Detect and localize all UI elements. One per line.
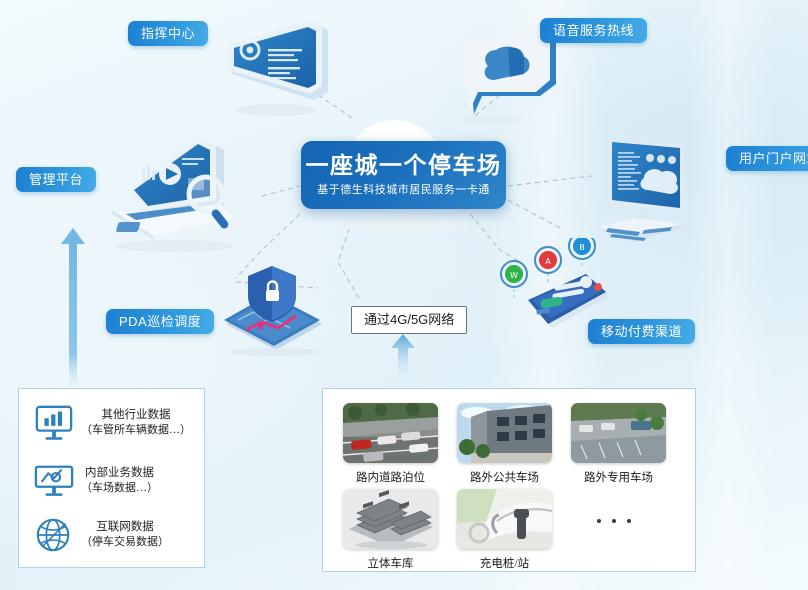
- user-portal-desktop: [586, 128, 716, 256]
- multistory-garage-photo: [343, 489, 438, 549]
- pda-inspection-device: [218, 258, 336, 356]
- public-parking-lot-photo: [457, 403, 552, 463]
- network-up-arrow: [388, 334, 418, 374]
- data-row-text: 内部业务数据 （车场数据…）: [81, 466, 158, 496]
- label-text: 管理平台: [29, 173, 83, 186]
- scene-caption: 路外公共车场: [457, 469, 552, 485]
- data-row-line2: （车场数据…）: [81, 481, 158, 496]
- label-text: 移动付费渠道: [601, 325, 682, 338]
- monitor-bar-chart-icon: [33, 403, 75, 443]
- data-sources-panel: 其他行业数据 （车管所车辆数据…） 内部业务数据 （车场数据…）: [18, 388, 205, 568]
- data-row[interactable]: 内部业务数据 （车场数据…）: [33, 461, 158, 501]
- infographic-canvas: W A B 指挥中心 语音服务热线 管理平台 用户门户网站 PDA巡检调度 移动…: [0, 0, 808, 590]
- label-text: 用户门户网站: [739, 152, 808, 165]
- label-pda-inspection[interactable]: PDA巡检调度: [106, 309, 214, 334]
- network-label: 通过4G/5G网络: [364, 312, 454, 327]
- command-center-display: [218, 18, 338, 130]
- ev-charging-photo: [457, 489, 552, 549]
- label-command-center[interactable]: 指挥中心: [128, 21, 208, 46]
- center-title: 一座城一个停车场: [306, 154, 502, 177]
- street-parking-photo: [343, 403, 438, 463]
- data-row-line1: 内部业务数据: [81, 466, 158, 482]
- scene-item[interactable]: 路外专用车场: [571, 403, 666, 485]
- data-row[interactable]: 其他行业数据 （车管所车辆数据…）: [33, 403, 191, 443]
- scene-item[interactable]: 立体车库: [343, 489, 438, 571]
- scene-caption: 立体车库: [343, 555, 438, 571]
- label-text: PDA巡检调度: [119, 315, 201, 328]
- data-row-line2: （停车交易数据）: [81, 535, 169, 550]
- data-row[interactable]: 互联网数据 （停车交易数据）: [33, 515, 169, 555]
- label-text: 语音服务热线: [553, 24, 634, 37]
- svg-text:B: B: [579, 243, 585, 252]
- parking-scenes-panel: 路内道路泊位: [322, 388, 696, 572]
- data-up-arrow: [58, 228, 88, 386]
- scene-item[interactable]: 充电桩/站: [457, 489, 552, 571]
- label-user-portal[interactable]: 用户门户网站: [726, 146, 808, 171]
- bank-app-icon: B: [569, 238, 595, 259]
- label-management-platform[interactable]: 管理平台: [16, 167, 96, 192]
- data-row-text: 其他行业数据 （车管所车辆数据…）: [81, 408, 191, 438]
- svg-text:W: W: [510, 271, 518, 280]
- scene-caption: 充电桩/站: [457, 555, 552, 571]
- label-text: 指挥中心: [141, 27, 195, 40]
- management-platform-laptop: [96, 132, 246, 256]
- scene-caption: 路外专用车场: [571, 469, 666, 485]
- scene-item[interactable]: 路内道路泊位: [343, 403, 438, 485]
- data-row-line1: 其他行业数据: [81, 408, 191, 424]
- wechat-app-icon: W: [501, 261, 527, 287]
- center-subtitle: 基于德生科技城市居民服务一卡通: [317, 185, 490, 196]
- scene-item[interactable]: 路外公共车场: [457, 403, 552, 485]
- globe-network-icon: [33, 515, 75, 555]
- data-row-line2: （车管所车辆数据…）: [81, 423, 191, 438]
- scene-caption: 路内道路泊位: [343, 469, 438, 485]
- label-mobile-payment[interactable]: 移动付费渠道: [588, 319, 695, 344]
- data-row-line1: 互联网数据: [81, 520, 169, 536]
- dedicated-parking-lot-photo: [571, 403, 666, 463]
- svg-text:A: A: [545, 257, 551, 266]
- more-items-ellipsis: [597, 519, 631, 523]
- network-box: 通过4G/5G网络: [351, 306, 467, 334]
- center-title-badge: 一座城一个停车场 基于德生科技城市居民服务一卡通: [301, 141, 506, 209]
- monitor-line-graph-icon: [33, 461, 75, 501]
- alipay-app-icon: A: [535, 247, 561, 273]
- label-voice-hotline[interactable]: 语音服务热线: [540, 18, 647, 43]
- data-row-text: 互联网数据 （停车交易数据）: [81, 520, 169, 550]
